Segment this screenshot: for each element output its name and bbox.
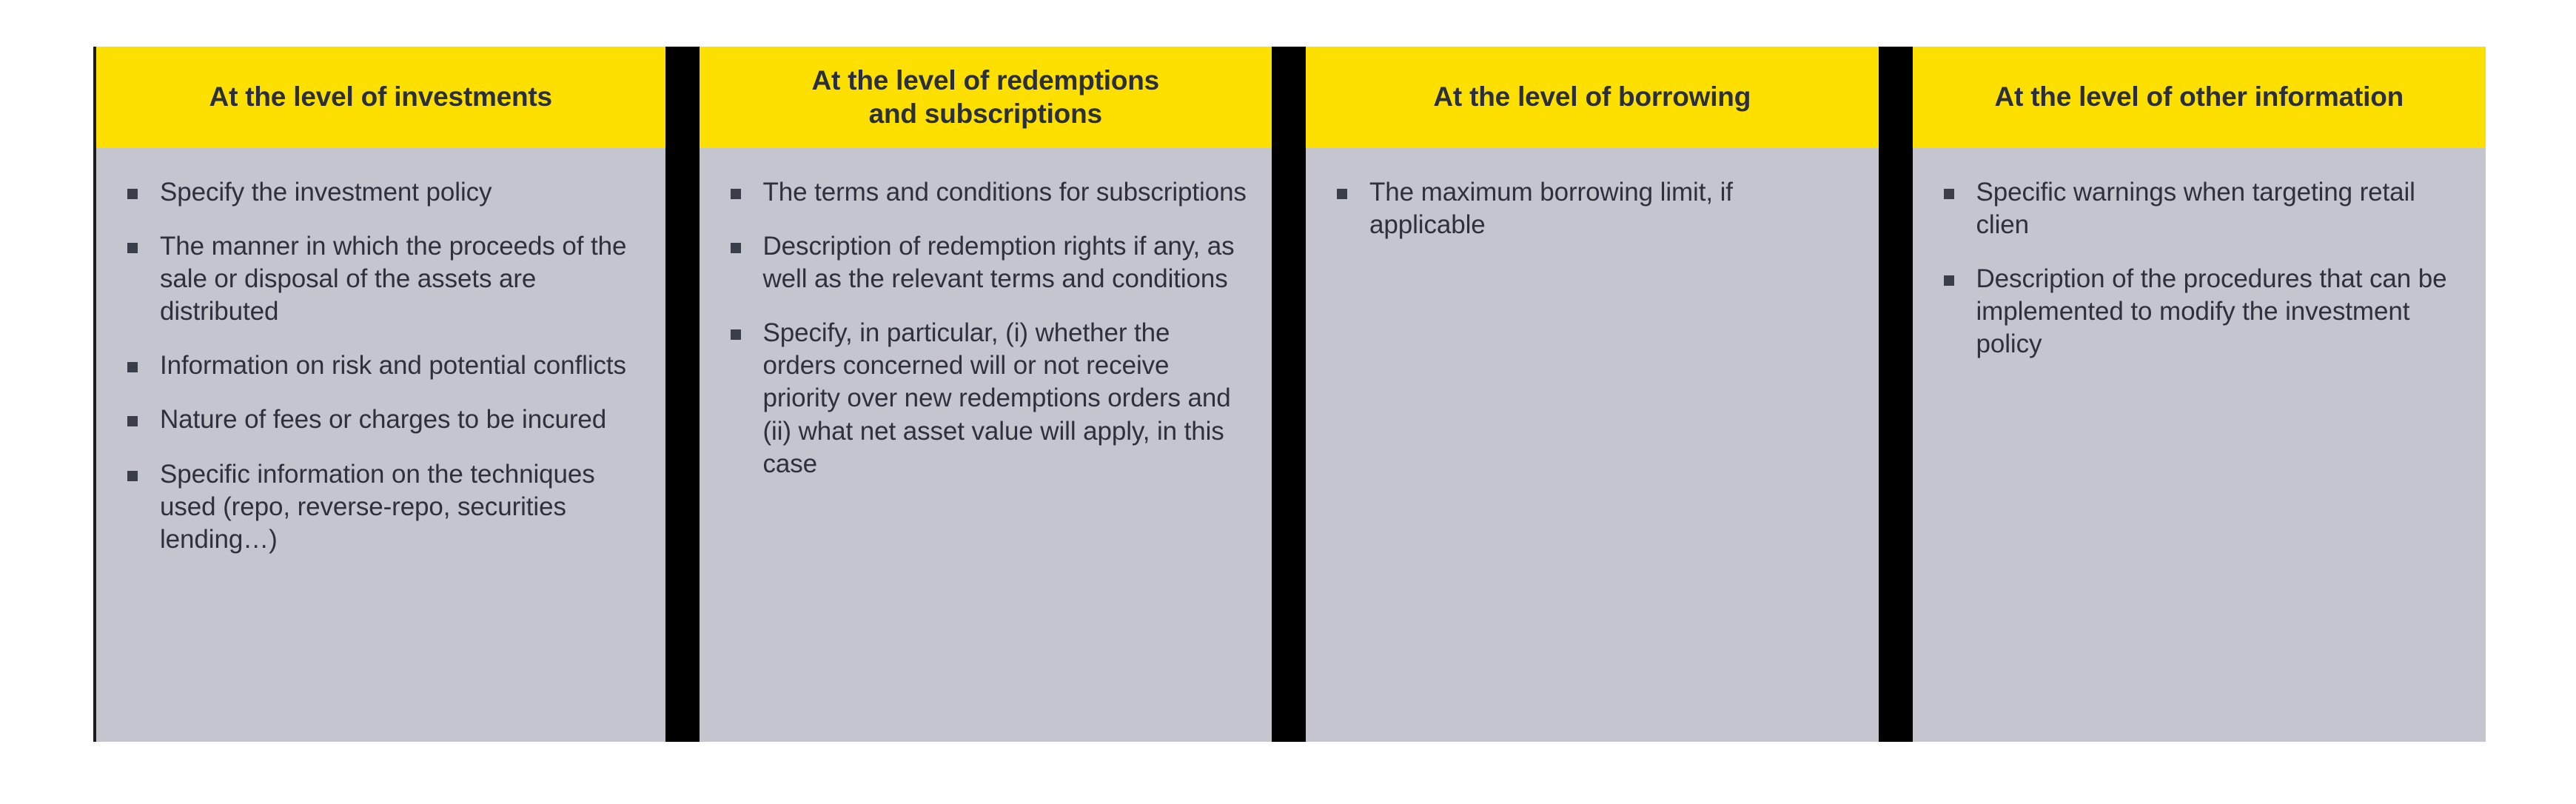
column-separator-1 <box>665 47 700 742</box>
column-redemptions-and-subscriptions: At the level of redemptions and subscrip… <box>700 47 1272 742</box>
column-header-label: At the level of redemptions and subscrip… <box>811 64 1159 130</box>
list-item: Specify the investment policy <box>124 176 640 209</box>
list-item: The manner in which the proceeds of the … <box>124 230 640 328</box>
square-bullet-icon <box>1337 189 1347 199</box>
bullet-list-borrowing: The maximum borrowing limit, if applicab… <box>1334 176 1854 241</box>
list-item: Specify, in particular, (i) whether the … <box>728 317 1247 480</box>
four-column-table: At the level of investments Specify the … <box>93 47 2486 742</box>
column-header-label: At the level of investments <box>209 81 552 113</box>
list-item: The maximum borrowing limit, if applicab… <box>1334 176 1854 241</box>
square-bullet-icon <box>1944 275 1954 286</box>
list-item-text: The maximum borrowing limit, if applicab… <box>1369 178 1733 239</box>
list-item: Description of the procedures that can b… <box>1941 263 2461 361</box>
square-bullet-icon <box>127 362 138 372</box>
column-header-investments: At the level of investments <box>96 47 665 148</box>
list-item: Information on risk and potential confli… <box>124 349 640 382</box>
list-item-text: Specify, in particular, (i) whether the … <box>763 318 1231 478</box>
column-body-redemptions-and-subscriptions: The terms and conditions for subscriptio… <box>700 148 1272 742</box>
column-separator-3 <box>1879 47 1913 742</box>
square-bullet-icon <box>127 189 138 199</box>
column-borrowing: At the level of borrowing The maximum bo… <box>1306 47 1879 742</box>
column-header-label: At the level of borrowing <box>1433 81 1751 113</box>
column-body-borrowing: The maximum borrowing limit, if applicab… <box>1306 148 1879 742</box>
square-bullet-icon <box>1944 189 1954 199</box>
list-item-text: The manner in which the proceeds of the … <box>160 232 626 326</box>
column-separator-2 <box>1272 47 1306 742</box>
bullet-list-other-information: Specific warnings when targeting retail … <box>1941 176 2461 361</box>
column-header-other-information: At the level of other information <box>1913 47 2486 148</box>
list-item: Specific information on the techniques u… <box>124 458 640 556</box>
list-item: Nature of fees or charges to be incured <box>124 403 640 436</box>
list-item-text: Nature of fees or charges to be incured <box>160 405 606 434</box>
list-item-text: Information on risk and potential confli… <box>160 351 626 380</box>
column-other-information: At the level of other information Specif… <box>1913 47 2486 742</box>
column-investments: At the level of investments Specify the … <box>93 47 665 742</box>
bullet-list-investments: Specify the investment policy The manner… <box>124 176 640 556</box>
square-bullet-icon <box>127 243 138 253</box>
column-header-borrowing: At the level of borrowing <box>1306 47 1879 148</box>
list-item-text: Description of redemption rights if any,… <box>763 232 1235 293</box>
list-item-text: Specific warnings when targeting retail … <box>1976 178 2415 239</box>
list-item-text: Specify the investment policy <box>160 178 492 207</box>
bullet-list-redemptions-and-subscriptions: The terms and conditions for subscriptio… <box>728 176 1247 480</box>
list-item: Specific warnings when targeting retail … <box>1941 176 2461 241</box>
column-header-redemptions-and-subscriptions: At the level of redemptions and subscrip… <box>700 47 1272 148</box>
square-bullet-icon <box>731 189 741 199</box>
square-bullet-icon <box>127 471 138 481</box>
square-bullet-icon <box>731 243 741 253</box>
square-bullet-icon <box>127 416 138 426</box>
list-item: The terms and conditions for subscriptio… <box>728 176 1247 209</box>
list-item-text: Description of the procedures that can b… <box>1976 264 2447 358</box>
column-body-other-information: Specific warnings when targeting retail … <box>1913 148 2486 742</box>
column-body-investments: Specify the investment policy The manner… <box>96 148 665 742</box>
column-header-label: At the level of other information <box>1994 81 2404 113</box>
square-bullet-icon <box>731 329 741 340</box>
list-item-text: Specific information on the techniques u… <box>160 460 595 554</box>
list-item-text: The terms and conditions for subscriptio… <box>763 178 1247 207</box>
list-item: Description of redemption rights if any,… <box>728 230 1247 295</box>
